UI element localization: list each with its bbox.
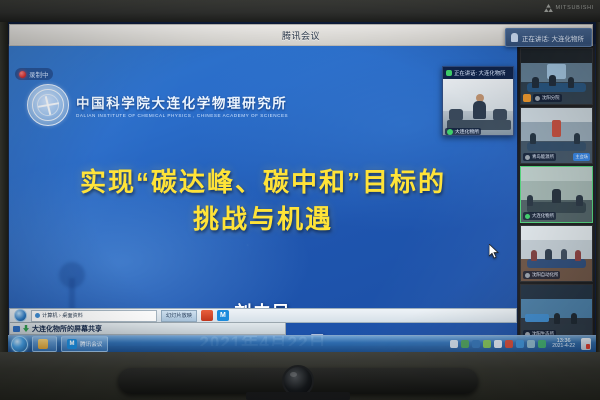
slide-title-line2: 挑战与机遇 [9,201,517,238]
institute-name-en: DALIAN INSTITUTE OF CHEMICAL PHYSICS , C… [76,113,288,118]
active-speaker-tag-name: 大连化物所 [455,128,479,135]
start-orb-icon[interactable] [14,309,27,322]
taskbar-clock[interactable]: 13:36 2021-4-22 [549,338,578,350]
music-icon[interactable] [472,340,480,348]
mitsubishi-logo-icon [544,4,553,12]
volume-icon[interactable] [538,340,546,348]
speaking-toast: 正在讲话: 大连化物所 [505,28,592,47]
host-icon [523,94,531,102]
participant-thumbnail-active[interactable]: 大连化物所 [520,166,593,223]
participant-name-label: 沈阳自动化所 [523,271,560,279]
address-text: 计算机 › 桌面资料 [42,312,83,319]
active-speaker-window[interactable]: 正在讲话: 大连化物所 大连化物所 [442,66,514,136]
powerpoint-icon[interactable] [201,310,213,321]
microphone-active-icon [525,214,530,219]
speaking-icon [447,129,453,135]
participant-name-label: 沈阳分院 [533,94,562,102]
participant-thumbnail[interactable]: 沈阳分院 [520,48,593,105]
monitor-bezel-right [596,22,600,352]
download-icon [23,325,29,332]
microphone-muted-icon [525,273,530,278]
screen-share-bar[interactable]: 大连化物所的屏幕共享 [9,322,286,335]
recording-label: 录制中 [29,69,49,79]
bluetooth-icon[interactable] [527,340,535,348]
participant-name: 沈阳自动化所 [532,272,558,278]
slideshow-button[interactable]: 幻灯片放映 [161,310,197,322]
taskbar-item-explorer[interactable] [32,336,57,352]
participant-name: 大连化物所 [532,213,554,219]
active-speaker-header-name: 正在讲话: 大连化物所 [454,69,506,77]
monitor-brand: MITSUBISHI [544,4,594,12]
tencent-meeting-icon[interactable] [217,310,229,321]
participant-thumbnail-strip[interactable]: 沈阳分院 青岛能源所 主会场 [518,46,595,346]
screen-share-text: 大连化物所的屏幕共享 [32,324,102,334]
participant-thumbnail[interactable]: 沈阳生态所 [520,284,593,341]
folder-icon [38,339,48,349]
antivirus-icon[interactable] [581,338,591,350]
microphone-icon [446,70,452,76]
keyboard-icon[interactable] [461,340,469,348]
system-tray[interactable]: 13:36 2021-4-22 [450,338,593,350]
institute-logo-icon [27,84,69,126]
recording-dot-icon [19,71,26,78]
speaking-toast-text: 正在讲话: 大连化物所 [522,33,584,43]
start-button[interactable] [11,336,28,353]
tencent-meeting-icon [67,339,77,349]
update-icon[interactable] [505,340,513,348]
slide-title-line1: 实现“碳达峰、碳中和”目标的 [9,164,517,201]
participant-thumbnail[interactable]: 沈阳自动化所 [520,225,593,282]
institute-name-cn: 中国科学院大连化学物理研究所 [76,92,288,112]
window-title: 腾讯会议 [282,29,320,42]
shield-icon[interactable] [483,340,491,348]
network-icon[interactable] [516,340,524,348]
monitor-screen: 腾讯会议 — ▫ ✕ 录制中 中国科学院大连化学物理研究所 [8,22,596,352]
participant-name: 沈阳分院 [542,95,560,101]
address-bar[interactable]: 计算机 › 桌面资料 [31,310,157,322]
recording-badge: 录制中 [15,68,53,80]
slide-title-block: 实现“碳达峰、碳中和”目标的 挑战与机遇 [9,164,517,238]
main-venue-badge: 主会场 [573,153,590,161]
active-speaker-video: 大连化物所 [443,79,513,136]
participant-thumbnail[interactable]: 青岛能源所 主会场 [520,107,593,164]
computer-icon [35,313,40,318]
explorer-window-strip[interactable]: 计算机 › 桌面资料 幻灯片放映 [9,308,517,323]
taskbar-item-tencent-meeting[interactable]: 腾讯会议 [61,336,108,352]
microphone-muted-icon [535,96,540,101]
taskbar-item-label: 腾讯会议 [80,340,102,348]
microphone-icon [511,33,518,42]
show-desktop-icon[interactable] [450,340,458,348]
institute-header: 中国科学院大连化学物理研究所 DALIAN INSTITUTE OF CHEMI… [27,84,288,126]
shared-presentation-slide: 录制中 中国科学院大连化学物理研究所 DALIAN INSTITUTE OF C… [9,46,517,346]
active-speaker-name-tag: 大连化物所 [445,128,481,135]
mouse-pointer [489,244,500,259]
microphone-muted-icon [525,155,530,160]
participant-name: 青岛能源所 [532,154,554,160]
participant-name-label: 青岛能源所 [523,153,556,161]
monitor-icon [13,326,20,332]
windows-taskbar[interactable]: 腾讯会议 13:36 2021-4-22 [8,335,596,352]
display-icon[interactable] [494,340,502,348]
conference-camera-bar [118,368,478,394]
active-speaker-header: 正在讲话: 大连化物所 [443,67,513,79]
camera-stand [246,392,350,400]
photographed-monitor: MITSUBISHI 腾讯会议 — ▫ ✕ 录制中 [0,0,600,400]
participant-name-label: 大连化物所 [523,212,556,220]
monitor-bezel-left [0,22,8,352]
monitor-brand-text: MITSUBISHI [556,5,594,11]
monitor-bezel-top: MITSUBISHI [0,0,600,22]
clock-date: 2021-4-22 [552,344,575,350]
